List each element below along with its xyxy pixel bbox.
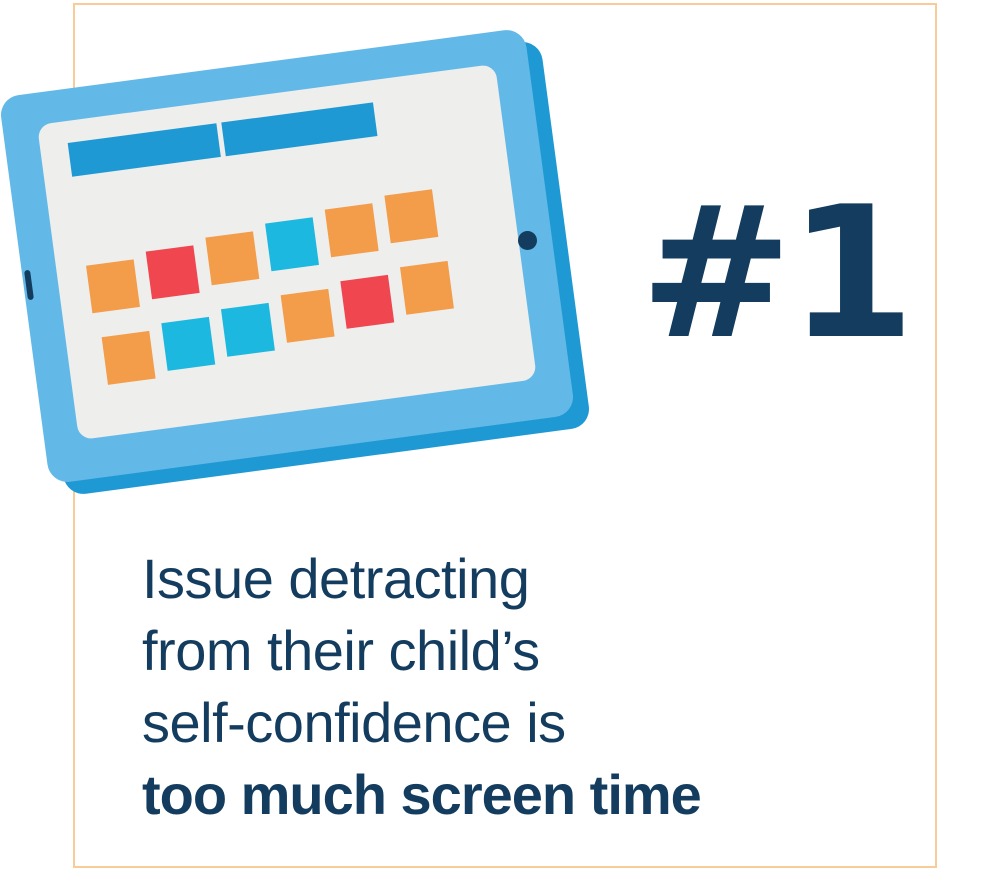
tablet-screen <box>37 64 537 440</box>
screen-bar-left-icon <box>68 123 221 177</box>
infographic-card: #1 Issue detracting from their child’s s… <box>0 0 1000 873</box>
app-tile <box>221 303 275 357</box>
app-tile <box>86 259 140 313</box>
caption-line-2: from their child’s <box>142 615 842 687</box>
app-tile <box>205 231 259 285</box>
app-tile <box>325 203 379 257</box>
tablet-illustration <box>0 55 600 505</box>
caption-line-3: self-confidence is <box>142 687 842 759</box>
app-tile <box>265 217 319 271</box>
caption-line-4: too much screen time <box>142 759 842 831</box>
caption-line-1: Issue detracting <box>142 543 842 615</box>
app-tile <box>102 331 156 385</box>
screen-bar-right-icon <box>221 102 377 156</box>
app-tile <box>340 275 394 329</box>
screen-content <box>37 64 537 440</box>
app-tile <box>161 317 215 371</box>
app-tile <box>400 261 454 315</box>
app-tile <box>384 189 438 243</box>
rank-badge: #1 <box>640 182 911 364</box>
app-tile <box>281 289 335 343</box>
app-tile <box>146 245 200 299</box>
caption-block: Issue detracting from their child’s self… <box>142 543 842 831</box>
tablet-camera-icon <box>518 231 537 250</box>
